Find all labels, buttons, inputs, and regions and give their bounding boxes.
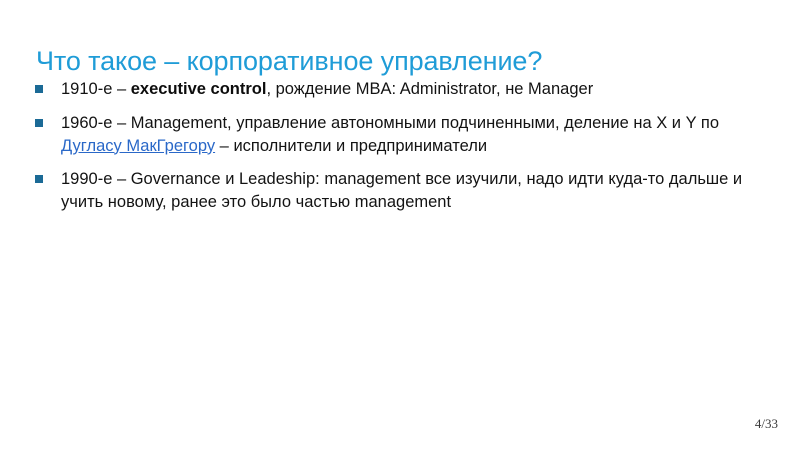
bullet-1960-suffix: – исполнители и предприниматели <box>215 137 487 155</box>
list-item: 1960-е – Management, управление автономн… <box>34 112 764 158</box>
bullet-1910-suffix: , рождение MBA: Administrator, не Manage… <box>266 80 593 98</box>
presentation-slide: Что такое – корпоративное управление? 19… <box>0 0 800 450</box>
page-title: Что такое – корпоративное управление? <box>36 46 764 77</box>
square-bullet-icon <box>35 119 43 127</box>
bullet-text-1910: 1910-е – executive control, рождение MBA… <box>61 78 764 101</box>
bullet-1910-bold-term: executive control <box>131 80 267 98</box>
bullet-list: 1910-е – executive control, рождение MBA… <box>34 78 764 214</box>
square-bullet-icon <box>35 175 43 183</box>
bullet-text-1960: 1960-е – Management, управление автономн… <box>61 112 764 158</box>
bullet-1910-prefix: 1910-е – <box>61 80 131 98</box>
bullet-text-1990: 1990-е – Governance и Leadeship: managem… <box>61 168 764 214</box>
bullet-1960-prefix: 1960-е – Management, управление автономн… <box>61 114 719 132</box>
page-number: 4/33 <box>755 416 778 432</box>
link-douglas-mcgregor[interactable]: Дугласу МакГрегору <box>61 137 215 155</box>
square-bullet-icon <box>35 85 43 93</box>
list-item: 1990-е – Governance и Leadeship: managem… <box>34 168 764 214</box>
list-item: 1910-е – executive control, рождение MBA… <box>34 78 764 101</box>
